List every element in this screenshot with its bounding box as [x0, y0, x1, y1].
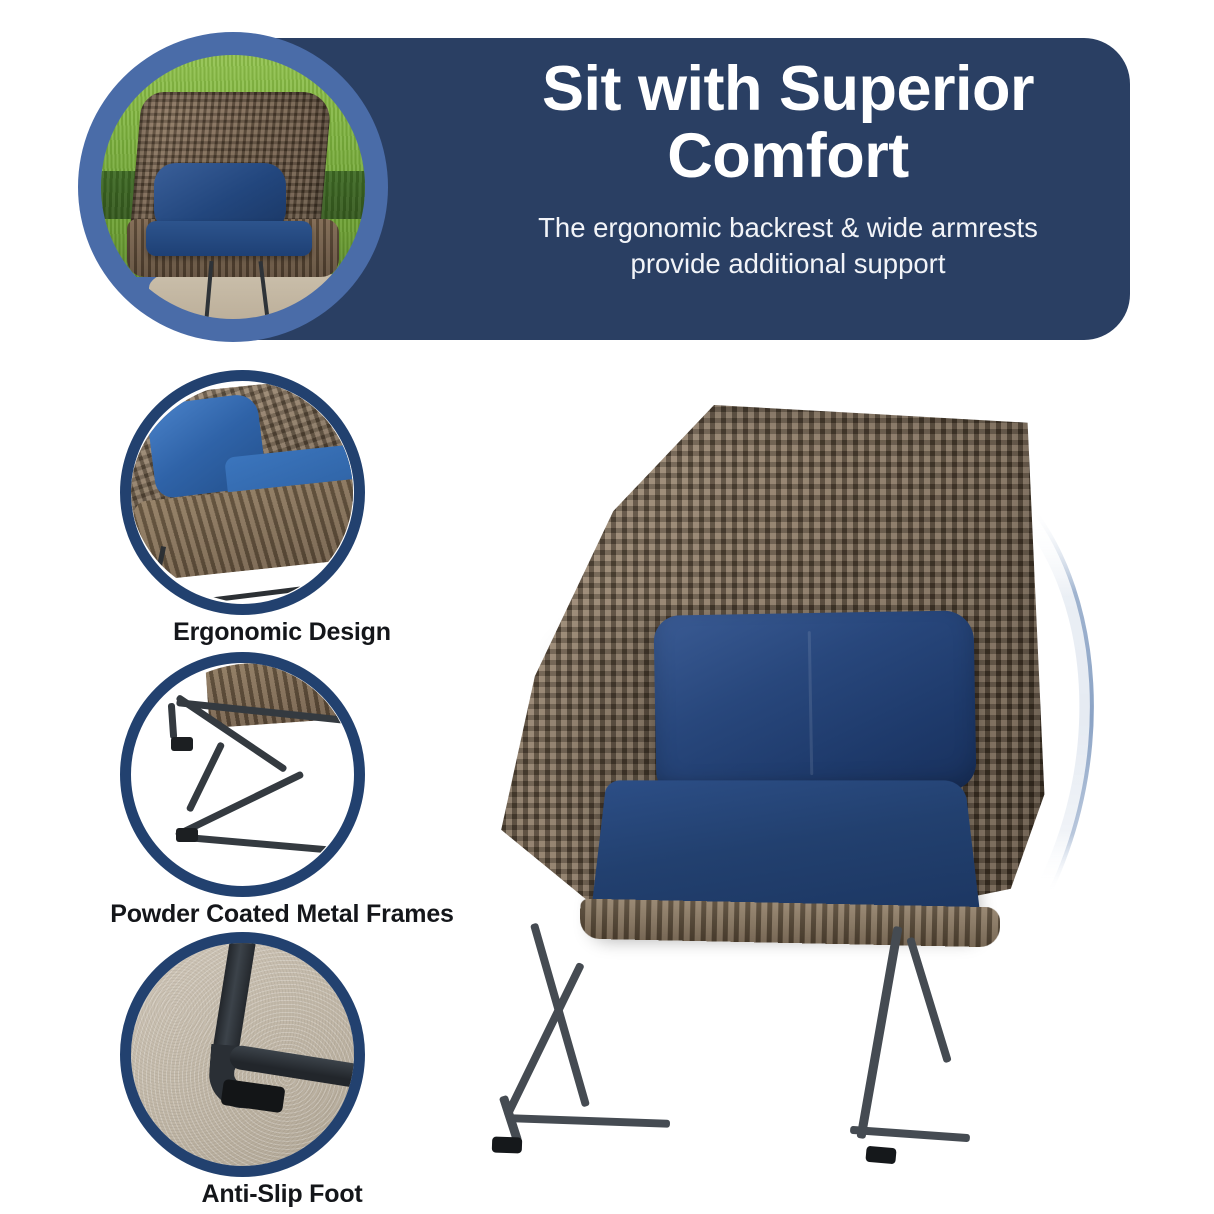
feature-2-ring [120, 652, 365, 897]
chair-foot-right [865, 1146, 896, 1165]
feature-2-circle [120, 652, 365, 897]
chair-leg-front-right [856, 926, 902, 1139]
chair-seat-rim [580, 899, 1001, 948]
header-title-line-2: Comfort [463, 123, 1113, 190]
feature-3-circle [120, 932, 365, 1177]
header-subtitle-line-1: The ergonomic backrest & wide armrests [463, 210, 1113, 246]
feature-3-label: Anti-Slip Foot [42, 1180, 522, 1209]
feature-1-circle [120, 370, 365, 615]
chair-runner-left [510, 1114, 670, 1128]
hero-product-photo [101, 55, 365, 319]
chair-brace-left [503, 962, 585, 1118]
feature-1-label: Ergonomic Design [62, 618, 502, 647]
hero-photo-scene [101, 55, 365, 319]
feature-2-label: Powder Coated Metal Frames [32, 900, 532, 929]
main-product-image [470, 395, 1130, 1195]
feature-3-ring [120, 932, 365, 1177]
header-subtitle: The ergonomic backrest & wide armrests p… [463, 210, 1113, 283]
hero-image-ring [78, 32, 388, 342]
header-subtitle-line-2: provide additional support [463, 246, 1113, 282]
header-title: Sit with Superior Comfort [463, 56, 1113, 191]
feature-1-ring [120, 370, 365, 615]
chair-brace-right [906, 937, 952, 1064]
chair-lumbar-pillow [653, 610, 976, 796]
infographic-canvas: Sit with Superior Comfort The ergonomic … [0, 0, 1214, 1214]
hero-chair-seat-cushion [146, 221, 312, 255]
chair-foot-left [492, 1136, 523, 1153]
header-title-line-1: Sit with Superior [463, 56, 1113, 123]
chair-runner-right [850, 1126, 970, 1142]
header-text-block: Sit with Superior Comfort The ergonomic … [463, 56, 1113, 282]
